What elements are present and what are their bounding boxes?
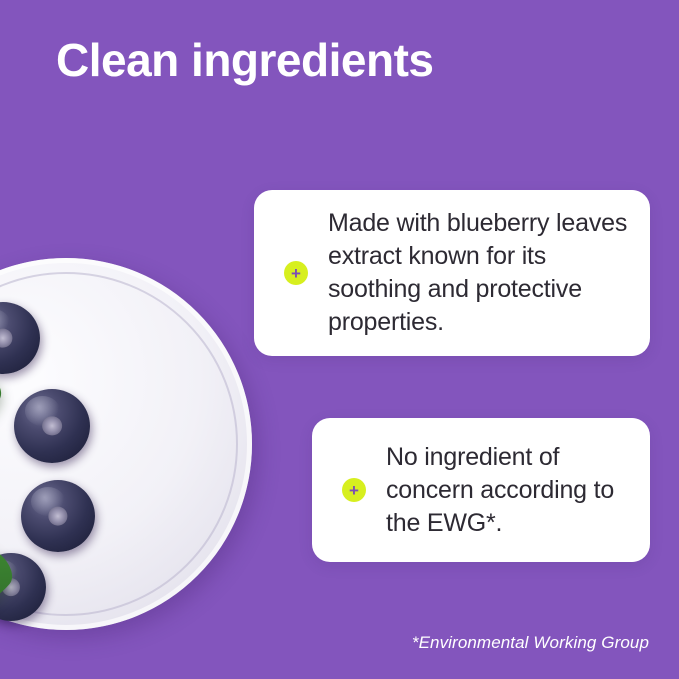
blueberry-petri-dish-photo — [0, 258, 280, 679]
claim-card-text: No ingredient of concern according to th… — [386, 441, 632, 540]
claim-card-ewg: + No ingredient of concern according to … — [312, 418, 650, 562]
plus-icon: + — [284, 261, 308, 285]
berry-bloom — [31, 487, 65, 516]
claim-card-ingredients: + Made with blueberry leaves extract kno… — [254, 190, 650, 356]
footnote: *Environmental Working Group — [412, 633, 649, 653]
page-title: Clean ingredients — [56, 33, 433, 87]
blueberry — [21, 480, 95, 552]
berry-bloom — [0, 309, 10, 338]
product-claims-banner: Clean ingredients + Made with blueberry … — [0, 0, 679, 679]
blueberry — [14, 389, 90, 463]
plus-icon: + — [342, 478, 366, 502]
berry-bloom — [25, 396, 60, 426]
claim-card-text: Made with blueberry leaves extract known… — [328, 207, 632, 339]
